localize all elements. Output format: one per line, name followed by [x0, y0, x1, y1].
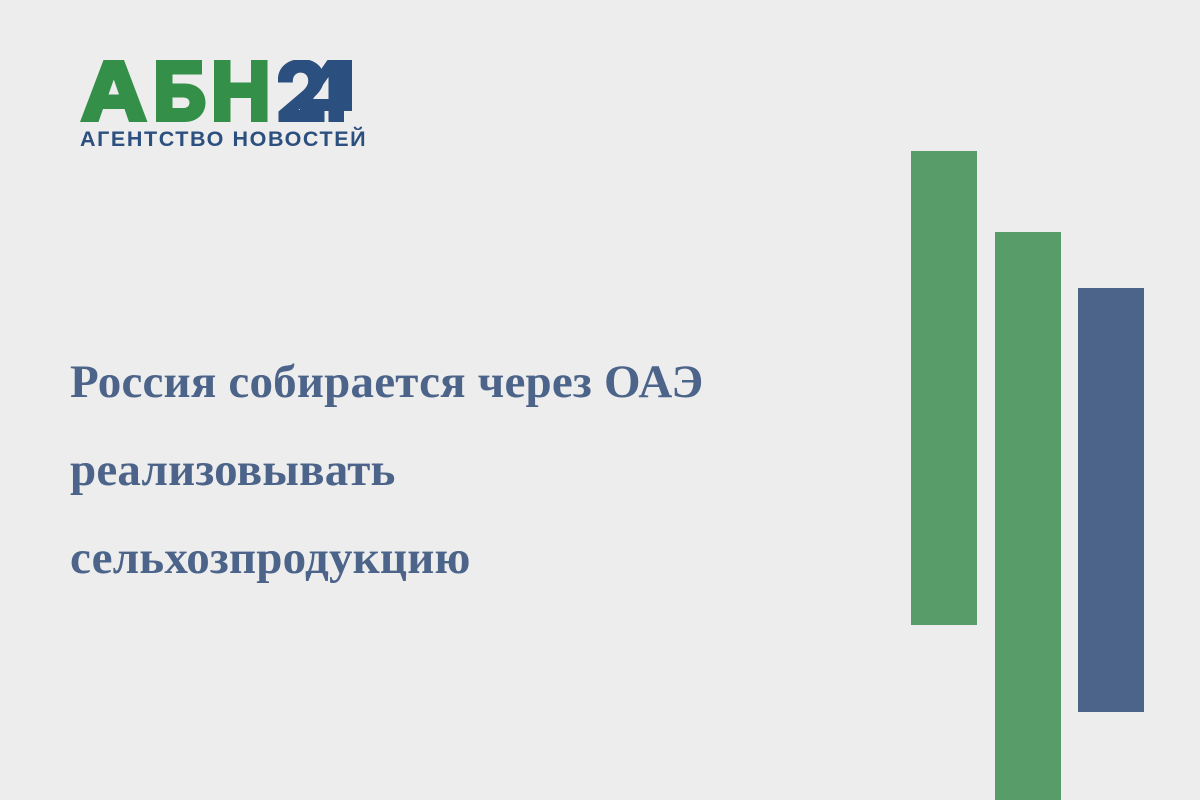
decorative-bar-3 — [1078, 288, 1144, 712]
abn24-logo-icon — [80, 60, 352, 122]
news-card: АГЕНТСТВО НОВОСТЕЙ Россия собирается чер… — [0, 0, 1200, 800]
headline-line-1: Россия собирается через ОАЭ — [70, 338, 870, 426]
headline-line-3: сельхозпродукцию — [70, 514, 870, 602]
brand-logo: АГЕНТСТВО НОВОСТЕЙ — [80, 60, 370, 151]
page-title: Россия собирается через ОАЭ реализовыват… — [70, 338, 870, 602]
decorative-bar-2 — [995, 232, 1061, 800]
headline-line-2: реализовывать — [70, 426, 870, 514]
decorative-bar-1 — [911, 151, 977, 625]
logo-tagline: АГЕНТСТВО НОВОСТЕЙ — [80, 129, 370, 151]
